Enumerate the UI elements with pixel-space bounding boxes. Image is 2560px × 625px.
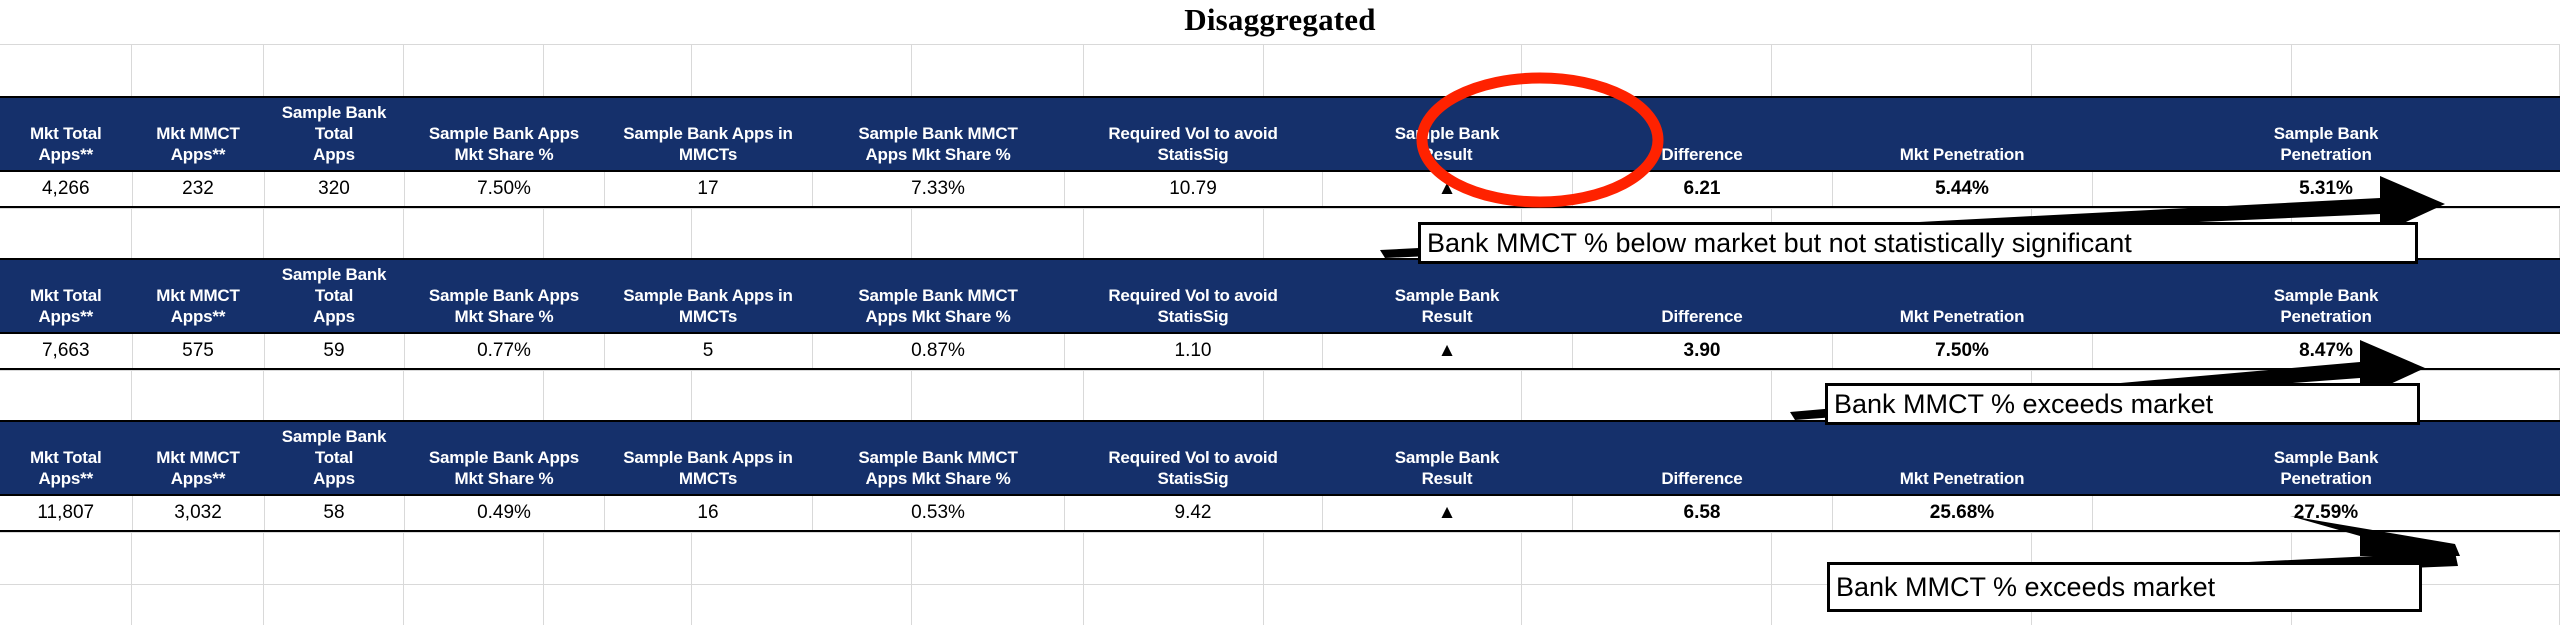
hdr-line: StatisSig (1158, 307, 1229, 326)
grid-cell (132, 371, 264, 422)
col-header-mkt-mmct-apps[interactable]: Mkt MMCTApps** (132, 259, 264, 333)
cell-difference[interactable]: 6.58 (1572, 495, 1832, 531)
cell-mkt-mmct-apps[interactable]: 575 (132, 333, 264, 369)
col-header-bank-penetration[interactable]: Sample BankPenetration (2092, 259, 2560, 333)
grid-cell (132, 585, 264, 625)
grid-cell (1264, 585, 1522, 625)
grid-cell (544, 533, 692, 584)
hdr-line: Mkt MMCT (156, 286, 239, 305)
hdr-line: Apps (313, 145, 355, 164)
hdr-line: Sample Bank (1395, 286, 1500, 305)
hdr-line: Apps** (171, 307, 226, 326)
hdr-line: Sample Bank MMCT (858, 124, 1017, 143)
col-header-bank-mmct-apps-mkt-share[interactable]: Sample Bank MMCTApps Mkt Share % (812, 259, 1064, 333)
hdr-line: Sample Bank Apps (429, 448, 579, 467)
cell-bank-result-up-triangle-icon[interactable]: ▲ (1322, 495, 1572, 531)
cell-bank-mmct-apps-mkt-share[interactable]: 0.53% (812, 495, 1064, 531)
callout-box-2[interactable]: Bank MMCT % exceeds market (1825, 383, 2420, 425)
hdr-line: Mkt Total Apps** (30, 286, 102, 326)
cell-bank-apps-mkt-share[interactable]: 0.77% (404, 333, 604, 369)
grid-cell (544, 45, 692, 96)
disaggregated-table-2: Mkt Total Apps** Mkt MMCTApps** Sample B… (0, 258, 2560, 370)
cell-mkt-mmct-apps[interactable]: 232 (132, 171, 264, 207)
hdr-line: Mkt MMCT (156, 448, 239, 467)
grid-cell (692, 371, 912, 422)
col-header-bank-apps-in-mmcts[interactable]: Sample Bank Apps inMMCTs (604, 97, 812, 171)
col-header-difference[interactable]: Difference (1572, 421, 1832, 495)
grid-cell (0, 371, 132, 422)
grid-cell (264, 209, 404, 260)
cell-bank-apps-in-mmcts[interactable]: 17 (604, 171, 812, 207)
hdr-line: MMCTs (679, 469, 737, 488)
hdr-line: Sample Bank Apps (429, 286, 579, 305)
cell-mkt-penetration[interactable]: 25.68% (1832, 495, 2092, 531)
grid-cell (132, 209, 264, 260)
cell-required-vol[interactable]: 9.42 (1064, 495, 1322, 531)
cell-bank-penetration[interactable]: 8.47% (2092, 333, 2560, 369)
hdr-line: Mkt Share % (455, 145, 554, 164)
hdr-line: Mkt MMCT (156, 124, 239, 143)
hdr-line: Apps Mkt Share % (865, 469, 1010, 488)
cell-mkt-total-apps[interactable]: 7,663 (0, 333, 132, 369)
hdr-line: Sample Bank MMCT (858, 448, 1017, 467)
cell-bank-result-up-triangle-icon[interactable]: ▲ (1322, 333, 1572, 369)
grid-cell (1264, 533, 1522, 584)
col-header-mkt-total-apps[interactable]: Mkt Total Apps** (0, 259, 132, 333)
hdr-line: Sample Bank Apps in (623, 448, 792, 467)
hdr-line: Sample Bank Total (282, 103, 387, 143)
grid-cell (692, 533, 912, 584)
table-row: 7,663 575 59 0.77% 5 0.87% 1.10 ▲ 3.90 7… (0, 333, 2560, 369)
grid-cell (404, 533, 544, 584)
col-header-mkt-total-apps[interactable]: Mkt Total Apps** (0, 97, 132, 171)
grid-cell (544, 371, 692, 422)
grid-cell (264, 585, 404, 625)
data-block-3: Mkt Total Apps** Mkt MMCTApps** Sample B… (0, 420, 2560, 532)
data-block-1: Mkt Total Apps** Mkt MMCTApps** Sample B… (0, 96, 2560, 208)
cell-bank-total-apps[interactable]: 320 (264, 171, 404, 207)
grid-cell (544, 209, 692, 260)
hdr-line: StatisSig (1158, 469, 1229, 488)
grid-cell (404, 585, 544, 625)
hdr-line: StatisSig (1158, 145, 1229, 164)
col-header-bank-mmct-apps-mkt-share[interactable]: Sample Bank MMCTApps Mkt Share % (812, 421, 1064, 495)
col-header-bank-mmct-apps-mkt-share[interactable]: Sample Bank MMCTApps Mkt Share % (812, 97, 1064, 171)
grid-cell (264, 533, 404, 584)
hdr-line: Result (1422, 145, 1473, 164)
cell-bank-apps-mkt-share[interactable]: 0.49% (404, 495, 604, 531)
hdr-line: Sample Bank (1395, 124, 1500, 143)
grid-cell (692, 585, 912, 625)
callout-text-3: Bank MMCT % exceeds market (1836, 574, 2215, 601)
cell-mkt-penetration[interactable]: 5.44% (1832, 171, 2092, 207)
table-header-row: Mkt Total Apps** Mkt MMCTApps** Sample B… (0, 259, 2560, 333)
col-header-bank-apps-in-mmcts[interactable]: Sample Bank Apps inMMCTs (604, 259, 812, 333)
cell-bank-penetration[interactable]: 5.31% (2092, 171, 2560, 207)
table-row: 11,807 3,032 58 0.49% 16 0.53% 9.42 ▲ 6.… (0, 495, 2560, 531)
table-header-row: Mkt Total Apps** Mkt MMCTApps** Sample B… (0, 421, 2560, 495)
cell-bank-mmct-apps-mkt-share[interactable]: 7.33% (812, 171, 1064, 207)
grid-cell (912, 45, 1084, 96)
col-header-bank-apps-mkt-share[interactable]: Sample Bank AppsMkt Share % (404, 421, 604, 495)
col-header-bank-penetration[interactable]: Sample BankPenetration (2092, 421, 2560, 495)
grid-cell (1084, 585, 1264, 625)
cell-difference[interactable]: 6.21 (1572, 171, 1832, 207)
col-header-required-vol[interactable]: Required Vol to avoidStatisSig (1064, 259, 1322, 333)
hdr-line: Apps Mkt Share % (865, 145, 1010, 164)
grid-cell (1522, 45, 1772, 96)
page-title: Disaggregated (0, 2, 2560, 38)
callout-text-1: Bank MMCT % below market but not statist… (1427, 230, 2132, 257)
col-header-mkt-penetration[interactable]: Mkt Penetration (1832, 97, 2092, 171)
grid-cell (1084, 533, 1264, 584)
grid-cell (264, 371, 404, 422)
hdr-line: Sample Bank Total (282, 265, 387, 305)
hdr-line: Mkt Penetration (1900, 145, 2025, 164)
col-header-required-vol[interactable]: Required Vol to avoidStatisSig (1064, 97, 1322, 171)
grid-cell (1084, 45, 1264, 96)
hdr-line: Sample Bank Apps in (623, 286, 792, 305)
col-header-mkt-penetration[interactable]: Mkt Penetration (1832, 421, 2092, 495)
cell-bank-mmct-apps-mkt-share[interactable]: 0.87% (812, 333, 1064, 369)
hdr-line: Sample Bank (1395, 448, 1500, 467)
hdr-line: Mkt Share % (455, 469, 554, 488)
cell-mkt-penetration[interactable]: 7.50% (1832, 333, 2092, 369)
hdr-line: Mkt Total Apps** (30, 448, 102, 488)
hdr-line: Required Vol to avoid (1108, 124, 1277, 143)
grid-cell (912, 533, 1084, 584)
hdr-line: Sample Bank (2274, 286, 2379, 305)
grid-cell (1522, 371, 1772, 422)
grid-cell (1264, 45, 1522, 96)
hdr-line: Penetration (2280, 145, 2371, 164)
col-header-mkt-total-apps[interactable]: Mkt Total Apps** (0, 421, 132, 495)
grid-cell (2292, 45, 2560, 96)
table-row: 4,266 232 320 7.50% 17 7.33% 10.79 ▲ 6.2… (0, 171, 2560, 207)
grid-cell (912, 585, 1084, 625)
table-header-row: Mkt Total Apps** Mkt MMCTApps** Sample B… (0, 97, 2560, 171)
col-header-bank-total-apps[interactable]: Sample Bank TotalApps (264, 421, 404, 495)
hdr-line: Sample Bank MMCT (858, 286, 1017, 305)
cell-mkt-total-apps[interactable]: 11,807 (0, 495, 132, 531)
disaggregated-table-1: Mkt Total Apps** Mkt MMCTApps** Sample B… (0, 96, 2560, 208)
hdr-line: Apps** (171, 145, 226, 164)
col-header-required-vol[interactable]: Required Vol to avoidStatisSig (1064, 421, 1322, 495)
col-header-bank-result[interactable]: Sample BankResult (1322, 259, 1572, 333)
grid-cell (1522, 533, 1772, 584)
callout-box-1[interactable]: Bank MMCT % below market but not statist… (1418, 222, 2418, 264)
cell-difference[interactable]: 3.90 (1572, 333, 1832, 369)
grid-cell (1084, 371, 1264, 422)
col-header-mkt-mmct-apps[interactable]: Mkt MMCTApps** (132, 97, 264, 171)
cell-required-vol[interactable]: 1.10 (1064, 333, 1322, 369)
grid-cell (404, 209, 544, 260)
grid-cell (0, 209, 132, 260)
hdr-line: Mkt Penetration (1900, 469, 2025, 488)
data-block-2: Mkt Total Apps** Mkt MMCTApps** Sample B… (0, 258, 2560, 370)
col-header-mkt-mmct-apps[interactable]: Mkt MMCTApps** (132, 421, 264, 495)
cell-required-vol[interactable]: 10.79 (1064, 171, 1322, 207)
hdr-line: Sample Bank Apps in (623, 124, 792, 143)
cell-bank-penetration[interactable]: 27.59% (2092, 495, 2560, 531)
col-header-bank-apps-mkt-share[interactable]: Sample Bank AppsMkt Share % (404, 259, 604, 333)
hdr-line: Sample Bank Apps (429, 124, 579, 143)
col-header-bank-apps-mkt-share[interactable]: Sample Bank AppsMkt Share % (404, 97, 604, 171)
hdr-line: Apps (313, 469, 355, 488)
callout-box-3[interactable]: Bank MMCT % exceeds market (1827, 562, 2422, 612)
grid-cell (544, 585, 692, 625)
grid-cell (0, 585, 132, 625)
col-header-bank-penetration[interactable]: Sample BankPenetration (2092, 97, 2560, 171)
hdr-line: Result (1422, 307, 1473, 326)
grid-cell (0, 533, 132, 584)
col-header-bank-total-apps[interactable]: Sample Bank TotalApps (264, 97, 404, 171)
hdr-line: Penetration (2280, 307, 2371, 326)
grid-cell (1772, 45, 2032, 96)
grid-cell (692, 209, 912, 260)
spreadsheet-canvas: Disaggregated Mkt Total Apps** Mkt MMCTA… (0, 0, 2560, 625)
grid-row-top (0, 44, 2560, 96)
hdr-line: Sample Bank Total (282, 427, 387, 467)
hdr-line: Result (1422, 469, 1473, 488)
hdr-line: MMCTs (679, 307, 737, 326)
hdr-line: Sample Bank (2274, 124, 2379, 143)
cell-bank-apps-in-mmcts[interactable]: 16 (604, 495, 812, 531)
hdr-line: Required Vol to avoid (1108, 286, 1277, 305)
grid-cell (2032, 45, 2292, 96)
hdr-line: Sample Bank (2274, 448, 2379, 467)
hdr-line: Mkt Share % (455, 307, 554, 326)
hdr-line: MMCTs (679, 145, 737, 164)
hdr-line: Apps Mkt Share % (865, 307, 1010, 326)
col-header-mkt-penetration[interactable]: Mkt Penetration (1832, 259, 2092, 333)
hdr-line: Mkt Total Apps** (30, 124, 102, 164)
callout-text-2: Bank MMCT % exceeds market (1834, 391, 2213, 418)
cell-bank-result-up-triangle-icon[interactable]: ▲ (1322, 171, 1572, 207)
grid-cell (1264, 371, 1522, 422)
hdr-line: Mkt Penetration (1900, 307, 2025, 326)
grid-cell (404, 371, 544, 422)
hdr-line: Required Vol to avoid (1108, 448, 1277, 467)
hdr-line: Difference (1661, 145, 1742, 164)
cell-bank-total-apps[interactable]: 59 (264, 333, 404, 369)
grid-cell (692, 45, 912, 96)
grid-cell (0, 45, 132, 96)
cell-mkt-total-apps[interactable]: 4,266 (0, 171, 132, 207)
cell-bank-apps-mkt-share[interactable]: 7.50% (404, 171, 604, 207)
col-header-difference[interactable]: Difference (1572, 97, 1832, 171)
hdr-line: Difference (1661, 469, 1742, 488)
cell-bank-apps-in-mmcts[interactable]: 5 (604, 333, 812, 369)
hdr-line: Apps (313, 307, 355, 326)
col-header-bank-apps-in-mmcts[interactable]: Sample Bank Apps inMMCTs (604, 421, 812, 495)
col-header-bank-total-apps[interactable]: Sample Bank TotalApps (264, 259, 404, 333)
grid-cell (1084, 209, 1264, 260)
cell-mkt-mmct-apps[interactable]: 3,032 (132, 495, 264, 531)
grid-cell (912, 209, 1084, 260)
grid-cell (912, 371, 1084, 422)
col-header-bank-result[interactable]: Sample BankResult (1322, 421, 1572, 495)
grid-cell (264, 45, 404, 96)
col-header-difference[interactable]: Difference (1572, 259, 1832, 333)
cell-bank-total-apps[interactable]: 58 (264, 495, 404, 531)
grid-cell (132, 45, 264, 96)
disaggregated-table-3: Mkt Total Apps** Mkt MMCTApps** Sample B… (0, 420, 2560, 532)
grid-cell (132, 533, 264, 584)
hdr-line: Apps** (171, 469, 226, 488)
col-header-bank-result[interactable]: Sample BankResult (1322, 97, 1572, 171)
grid-cell (404, 45, 544, 96)
hdr-line: Penetration (2280, 469, 2371, 488)
hdr-line: Difference (1661, 307, 1742, 326)
grid-cell (1522, 585, 1772, 625)
